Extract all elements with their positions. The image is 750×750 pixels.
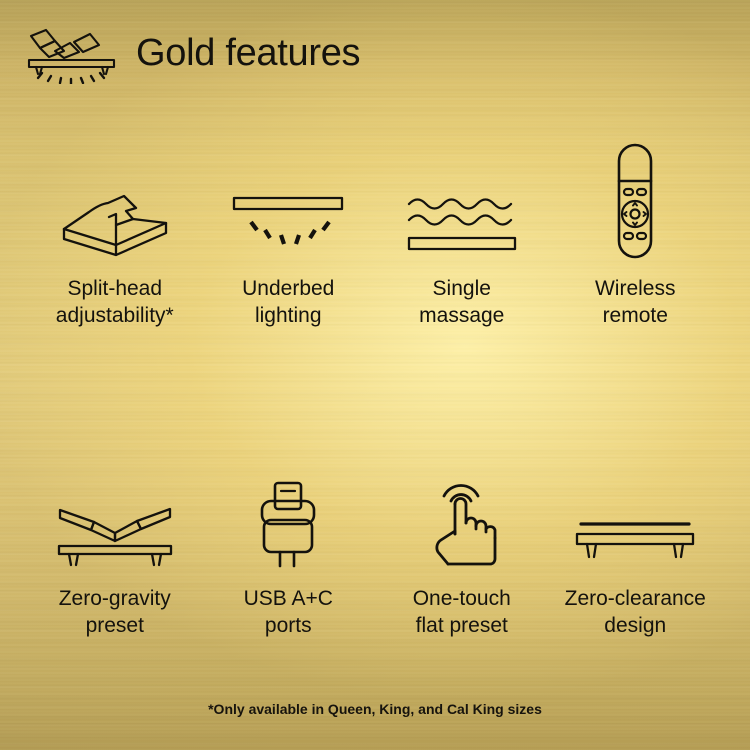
feature-zero-gravity-preset: Zero-gravity preset [28,450,202,640]
feature-split-head-adjustability: Split-head adjustability* [28,140,202,330]
usb-plug-icon [250,450,326,570]
tap-hand-icon [421,450,503,570]
zero-gravity-bed-icon [53,450,177,570]
footnote: *Only available in Queen, King, and Cal … [0,701,750,717]
remote-control-icon [605,140,665,260]
feature-wireless-remote: Wireless remote [549,140,723,330]
page-title: Gold features [136,32,360,75]
feature-usb-ports: USB A+C ports [202,450,376,640]
feature-label: Split-head adjustability* [56,276,174,330]
feature-label: Single massage [419,276,504,330]
split-head-mattress-icon [56,140,174,260]
feature-underbed-lighting: Underbed lighting [202,140,376,330]
feature-label: Wireless remote [595,276,676,330]
massage-waves-icon [403,140,521,260]
feature-label: Zero-gravity preset [59,586,171,640]
header: Gold features [24,22,360,84]
flat-low-bed-icon [573,450,697,570]
adjustable-bed-with-underbed-light-icon [24,22,120,84]
feature-label: Underbed lighting [242,276,334,330]
feature-one-touch-flat-preset: One-touch flat preset [375,450,549,640]
feature-zero-clearance-design: Zero-clearance design [549,450,723,640]
feature-grid: Split-head adjustability* Underbed [28,140,722,640]
underbed-light-bar-icon [229,140,347,260]
feature-label: One-touch flat preset [413,586,511,640]
feature-label: USB A+C ports [244,586,333,640]
feature-label: Zero-clearance design [565,586,706,640]
gold-features-poster: Gold features Split-head adjustability* [0,0,750,750]
feature-single-massage: Single massage [375,140,549,330]
